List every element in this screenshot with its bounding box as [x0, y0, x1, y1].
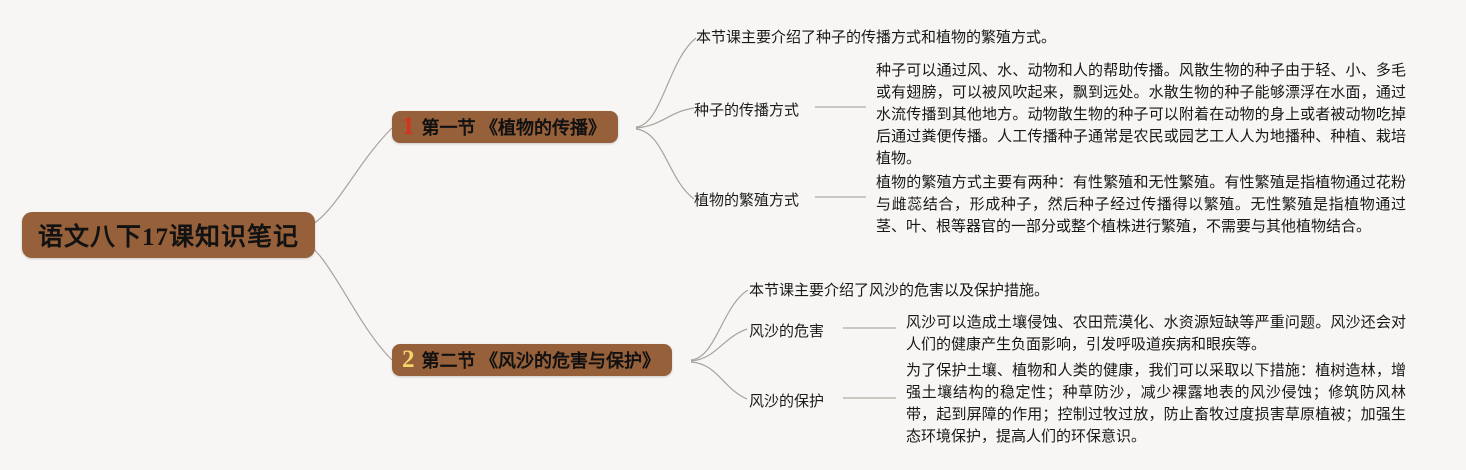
- link-branch-1-sub-1: [636, 108, 694, 128]
- subtopic-label-sandstorm-protection[interactable]: 风沙的保护: [749, 390, 824, 411]
- branch-2-number: 2: [402, 347, 415, 372]
- link-branch-1-sub-2: [636, 129, 694, 199]
- branch-2-summary: 本节课主要介绍了风沙的危害以及保护措施。: [749, 280, 1049, 302]
- link-branch-2-sub-2: [691, 362, 747, 399]
- branch-1-title: 第一节 《植物的传播》: [422, 114, 607, 140]
- branch-2-title: 第二节 《风沙的危害与保护》: [422, 347, 661, 373]
- link-branch-2-summary: [691, 290, 748, 360]
- subtopic-label-seed-dispersal[interactable]: 种子的传播方式: [694, 99, 799, 120]
- subtopic-body-plant-reproduction: 植物的繁殖方式主要有两种：有性繁殖和无性繁殖。有性繁殖是指植物通过花粉与雌蕊结合…: [876, 172, 1406, 238]
- branch-node-2[interactable]: 2 第二节 《风沙的危害与保护》: [392, 344, 672, 376]
- subtopic-label-sandstorm-hazards[interactable]: 风沙的危害: [749, 320, 824, 341]
- root-node[interactable]: 语文八下17课知识笔记: [22, 212, 315, 258]
- subtopic-label-plant-reproduction[interactable]: 植物的繁殖方式: [694, 189, 799, 210]
- root-node-title: 语文八下17课知识笔记: [38, 217, 299, 253]
- mindmap-canvas: 语文八下17课知识笔记 1 第一节 《植物的传播》 本节课主要介绍了种子的传播方…: [0, 0, 1466, 470]
- branch-1-summary: 本节课主要介绍了种子的传播方式和植物的繁殖方式。: [696, 27, 1056, 49]
- branch-1-number: 1: [402, 114, 415, 139]
- link-branch-1-summary: [636, 38, 696, 127]
- branch-node-1[interactable]: 1 第一节 《植物的传播》: [392, 111, 618, 143]
- subtopic-body-sandstorm-protection: 为了保护土壤、植物和人类的健康，我们可以采取以下措施：植树造林，增强土壤结构的稳…: [906, 360, 1406, 448]
- subtopic-body-sandstorm-hazards: 风沙可以造成土壤侵蚀、农田荒漠化、水资源短缺等严重问题。风沙还会对人们的健康产生…: [906, 312, 1406, 356]
- subtopic-body-seed-dispersal: 种子可以通过风、水、动物和人的帮助传播。风散生物的种子由于轻、小、多毛或有翅膀，…: [876, 60, 1406, 170]
- link-branch-2-sub-1: [691, 329, 747, 361]
